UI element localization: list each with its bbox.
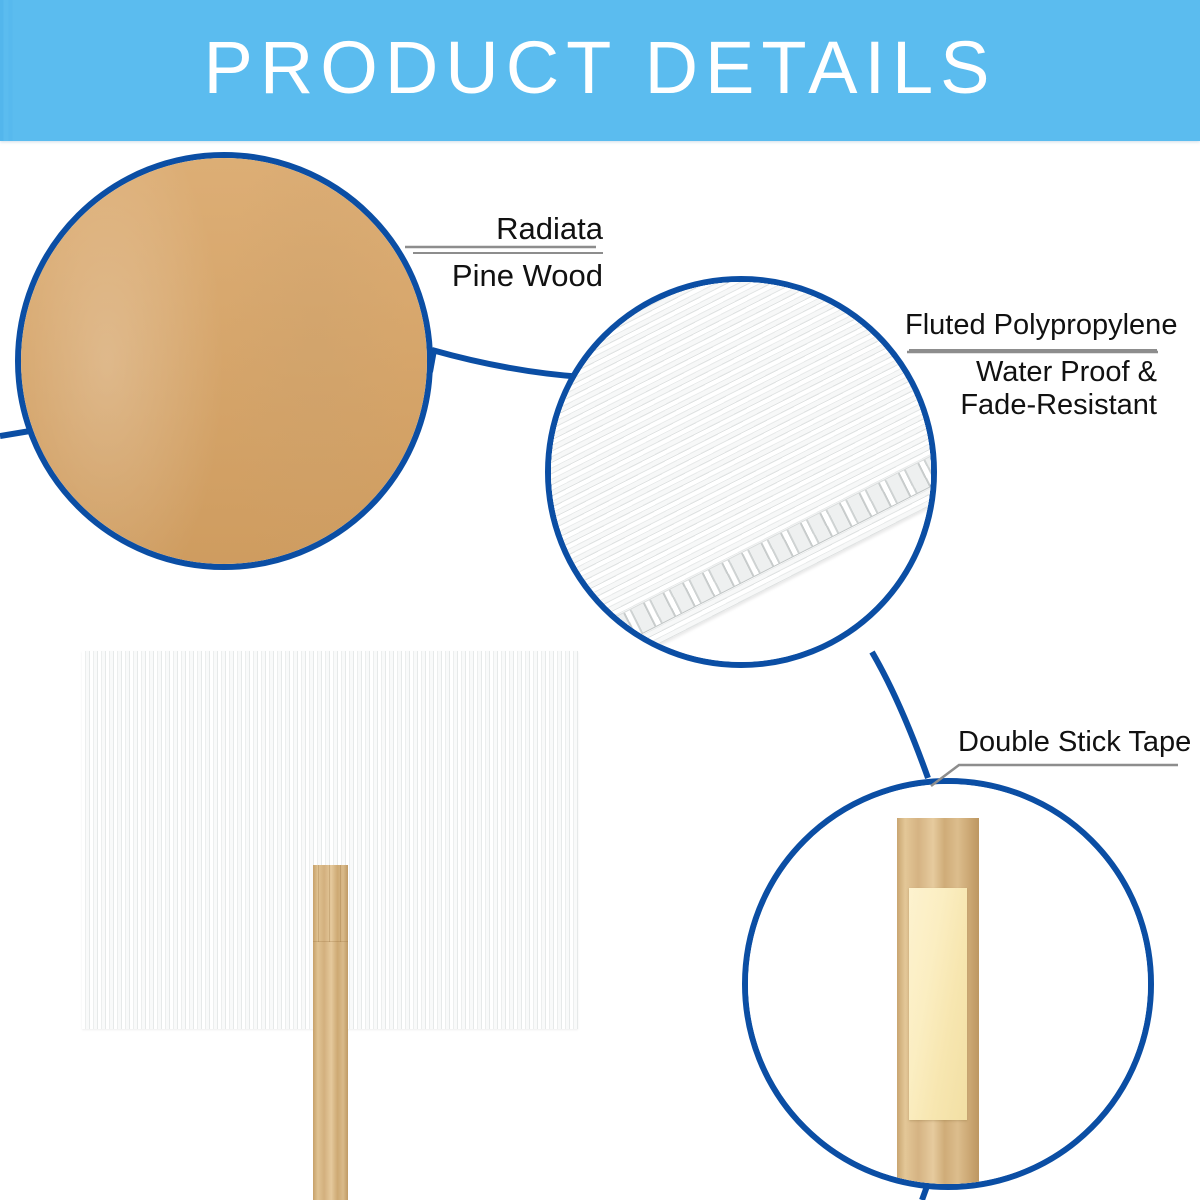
callout-flute-subtitle: Water Proof &	[905, 356, 1157, 390]
product-stake-grooved-tip	[313, 865, 348, 942]
callout-wood-subtitle: Pine Wood	[403, 258, 603, 294]
callout-wood-title: Radiata	[403, 211, 603, 247]
flute-bubble-background	[545, 276, 937, 668]
detail-bubble-radiata-pine-wood[interactable]	[15, 152, 433, 570]
callout-tape-title: Double Stick Tape	[958, 726, 1176, 760]
callout-radiata-pine-wood: Radiata Pine Wood	[403, 211, 603, 294]
corrugated-sheet-face	[545, 276, 937, 668]
callout-fluted-polypropylene: Fluted Polypropylene Water Proof & Fade-…	[905, 309, 1157, 423]
product-details-infographic: PRODUCT DETAILS	[0, 0, 1200, 1200]
detail-bubble-fluted-polypropylene[interactable]	[545, 276, 937, 668]
page-title: PRODUCT DETAILS	[0, 0, 1200, 141]
wood-grain-texture	[15, 152, 433, 570]
callout-wood-divider	[413, 252, 603, 254]
double-stick-tape-strip	[909, 888, 967, 1120]
detail-bubble-double-stick-tape[interactable]	[742, 778, 1154, 1190]
connector-flute-to-tape	[872, 652, 928, 778]
callout-flute-title: Fluted Polypropylene	[905, 309, 1157, 343]
callout-flute-subtitle-2: Fade-Resistant	[905, 389, 1157, 423]
tape-bubble-background	[742, 778, 1154, 1190]
callout-double-stick-tape: Double Stick Tape	[958, 726, 1176, 760]
callout-flute-divider	[909, 349, 1157, 351]
